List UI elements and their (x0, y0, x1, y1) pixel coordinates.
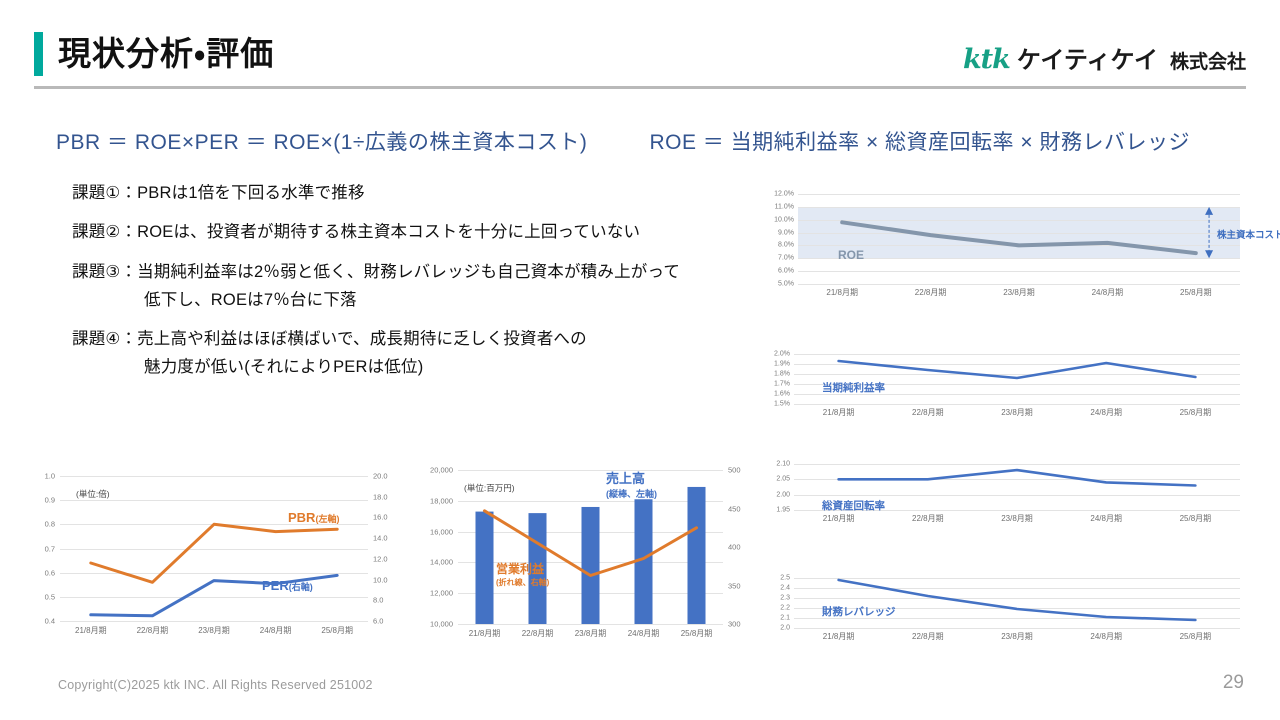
y-axis-tick: 2.4 (780, 585, 790, 592)
x-axis-tick: 22/8月期 (137, 625, 169, 636)
x-axis-tick: 21/8月期 (823, 631, 855, 642)
x-axis-tick: 21/8月期 (823, 513, 855, 524)
series-line (839, 361, 1196, 378)
x-axis-tick: 22/8月期 (522, 628, 554, 639)
x-axis-tick: 23/8月期 (1001, 513, 1033, 524)
x-axis-tick: 22/8月期 (912, 631, 944, 642)
x-axis-tick: 23/8月期 (198, 625, 230, 636)
gridline (794, 628, 1240, 629)
y-axis-tick: 1.5% (774, 401, 790, 408)
x-axis-tick: 25/8月期 (1180, 631, 1212, 642)
y-axis-tick: 11.0% (775, 203, 794, 210)
gridline (794, 404, 1240, 405)
x-axis-tick: 24/8月期 (628, 628, 660, 639)
y2-axis-tick: 450 (728, 504, 741, 513)
issue-item-1: 課題①：PBRは1倍を下回る水準で推移 (72, 182, 772, 204)
y2-axis-tick: 12.0 (373, 554, 388, 563)
series-name: 財務レバレッジ (822, 606, 896, 618)
y-axis-tick: 10.0% (774, 216, 794, 223)
x-axis-tick: 25/8月期 (1180, 407, 1212, 418)
y-axis-tick: 1.95 (776, 507, 790, 514)
formula-row: PBR ＝ ROE×PER ＝ ROE×(1÷広義の株主資本コスト) ROE ＝… (56, 126, 1236, 156)
y-axis-tick: 2.2 (780, 605, 790, 612)
series-name: ROE (838, 248, 864, 262)
unit-note: (単位:倍) (76, 488, 110, 500)
y2-axis-tick: 18.0 (373, 492, 388, 501)
y-axis-tick: 2.1 (780, 615, 790, 622)
series-axis-note: (左軸) (315, 514, 339, 524)
y2-axis-tick: 500 (728, 466, 741, 475)
chart-series-layer (794, 354, 1240, 404)
chart-roe: 5.0%6.0%7.0%8.0%9.0%10.0%11.0%12.0%21/8月… (760, 190, 1250, 302)
series-line (839, 470, 1196, 485)
x-axis-tick: 21/8月期 (469, 628, 501, 639)
issue-text: 課題④：売上高や利益はほぼ横ばいで、成長期待に乏しく投資者への (72, 330, 587, 348)
x-axis-tick: 23/8月期 (1001, 407, 1033, 418)
plot-area: 1.5%1.6%1.7%1.8%1.9%2.0%21/8月期22/8月期23/8… (794, 354, 1240, 404)
x-axis-tick: 21/8月期 (75, 625, 107, 636)
y2-axis-tick: 400 (728, 543, 741, 552)
y-axis-tick: 16,000 (430, 527, 453, 536)
y2-axis-tick: 6.0 (373, 617, 383, 626)
y-axis-tick: 0.7 (45, 544, 55, 553)
chart-sales-profit: 10,00012,00014,00016,00018,00020,0003003… (412, 460, 757, 648)
y-axis-tick: 2.00 (776, 491, 790, 498)
y-axis-tick: 7.0% (778, 255, 794, 262)
y2-axis-tick: 8.0 (373, 596, 383, 605)
series-name: 当期純利益率 (822, 382, 885, 394)
y-axis-tick: 20,000 (430, 466, 453, 475)
y-axis-tick: 0.4 (45, 617, 55, 626)
series-axis-note: (縦棒、左軸) (606, 487, 657, 500)
cost-of-equity-label: 株主資本コスト (1217, 227, 1280, 241)
y-axis-tick: 12.0% (774, 191, 794, 198)
y-axis-tick: 10,000 (430, 620, 453, 629)
y-axis-tick: 8.0% (778, 242, 794, 249)
series-label-ROE: ROE (838, 248, 864, 262)
x-axis-tick: 24/8月期 (260, 625, 292, 636)
y-axis-tick: 14,000 (430, 558, 453, 567)
chart-financial-leverage: 2.02.12.22.32.42.521/8月期22/8月期23/8月期24/8… (760, 568, 1250, 646)
y2-axis-tick: 300 (728, 620, 741, 629)
y-axis-tick: 1.8% (774, 371, 790, 378)
issue-text-continued: 低下し、ROEは7％台に下落 (144, 289, 772, 311)
x-axis-tick: 25/8月期 (681, 628, 713, 639)
series-name: PER (262, 578, 289, 593)
y-axis-tick: 2.05 (776, 476, 790, 483)
x-axis-tick: 22/8月期 (912, 513, 944, 524)
issue-text: 課題③：当期純利益率は2％弱と低く、財務レバレッジも自己資本が積み上がって (72, 263, 680, 281)
bar (581, 507, 599, 624)
company-logo: ktk ケイティケイ 株式会社 (963, 40, 1246, 75)
formula-roe: ROE ＝ 当期純利益率 × 総資産回転率 × 財務レバレッジ (649, 126, 1190, 156)
series-line (91, 524, 337, 582)
y-axis-tick: 6.0% (778, 268, 794, 275)
series-name: 営業利益 (496, 562, 544, 576)
slide: 現状分析・評価 ktk ケイティケイ 株式会社 PBR ＝ ROE×PER ＝ … (0, 0, 1280, 720)
y-axis-tick: 1.0 (45, 472, 55, 481)
logo-company-name: ケイティケイ (1017, 40, 1158, 75)
series-label-総資産回転率: 総資産回転率 (822, 498, 885, 513)
chart-pbr-per: 0.40.50.60.70.80.91.06.08.010.012.014.01… (30, 468, 400, 643)
issue-text-continued: 魅力度が低い(それによりPERは低位) (144, 356, 772, 378)
series-axis-note: (右軸) (289, 582, 313, 592)
series-axis-note: (折れ線、右軸) (496, 577, 549, 588)
y2-axis-tick: 20.0 (373, 472, 388, 481)
plot-area: 2.02.12.22.32.42.521/8月期22/8月期23/8月期24/8… (794, 578, 1240, 628)
issue-item-4: 課題④：売上高や利益はほぼ横ばいで、成長期待に乏しく投資者への 魅力度が低い(そ… (72, 328, 772, 379)
series-label-当期純利益率: 当期純利益率 (822, 380, 885, 395)
x-axis-tick: 23/8月期 (1001, 631, 1033, 642)
x-axis-tick: 22/8月期 (912, 407, 944, 418)
unit-note: (単位:百万円) (464, 482, 515, 494)
x-axis-tick: 24/8月期 (1090, 631, 1122, 642)
series-line (842, 222, 1196, 253)
issue-list: 課題①：PBRは1倍を下回る水準で推移 課題②：ROEは、投資者が期待する株主資… (72, 182, 772, 396)
page-number: 29 (1223, 672, 1244, 694)
y-axis-tick: 1.9% (774, 361, 790, 368)
y-axis-tick: 0.5 (45, 592, 55, 601)
bar (687, 487, 705, 624)
y-axis-tick: 18,000 (430, 496, 453, 505)
series-label-PBR: PBR(左軸) (288, 510, 339, 525)
title-accent-bar (34, 32, 43, 76)
y-axis-tick: 2.0% (774, 351, 790, 358)
chart-series-layer (794, 578, 1240, 628)
x-axis-tick: 24/8月期 (1090, 513, 1122, 524)
x-axis-tick: 24/8月期 (1092, 287, 1124, 298)
page-title: 現状分析・評価 (58, 32, 274, 76)
bar (475, 512, 493, 624)
y2-axis-tick: 16.0 (373, 513, 388, 522)
y-axis-tick: 2.5 (780, 575, 790, 582)
x-axis-tick: 21/8月期 (823, 407, 855, 418)
x-axis-tick: 24/8月期 (1090, 407, 1122, 418)
gridline (458, 624, 723, 625)
header-divider (34, 86, 1246, 89)
y-axis-tick: 1.7% (774, 381, 790, 388)
series-name: 総資産回転率 (822, 500, 885, 512)
y-axis-tick: 12,000 (430, 589, 453, 598)
x-axis-tick: 23/8月期 (1003, 287, 1035, 298)
y-axis-tick: 5.0% (778, 281, 794, 288)
y-axis-tick: 0.6 (45, 568, 55, 577)
plot-area: 5.0%6.0%7.0%8.0%9.0%10.0%11.0%12.0%21/8月… (798, 194, 1240, 284)
y-axis-tick: 9.0% (778, 229, 794, 236)
series-name: 売上高 (606, 471, 645, 486)
y-axis-tick: 1.6% (774, 391, 790, 398)
issue-text: 課題②：ROEは、投資者が期待する株主資本コストを十分に上回っていない (72, 223, 640, 241)
footer-copyright: Copyright(C)2025 ktk INC. All Rights Res… (58, 678, 373, 692)
x-axis-tick: 25/8月期 (1180, 513, 1212, 524)
x-axis-tick: 25/8月期 (321, 625, 353, 636)
y-axis-tick: 0.8 (45, 520, 55, 529)
x-axis-tick: 25/8月期 (1180, 287, 1212, 298)
series-label-営業利益: 営業利益(折れ線、右軸) (496, 560, 549, 588)
series-name: PBR (288, 510, 315, 525)
y-axis-tick: 2.0 (780, 625, 790, 632)
gridline (60, 621, 368, 622)
y-axis-tick: 0.9 (45, 496, 55, 505)
y2-axis-tick: 10.0 (373, 575, 388, 584)
issue-text: 課題①：PBRは1倍を下回る水準で推移 (72, 184, 365, 202)
y-axis-tick: 2.3 (780, 595, 790, 602)
x-axis-tick: 22/8月期 (915, 287, 947, 298)
x-axis-tick: 21/8月期 (826, 287, 858, 298)
issue-item-3: 課題③：当期純利益率は2％弱と低く、財務レバレッジも自己資本が積み上がって 低下… (72, 261, 772, 312)
series-label-売上高: 売上高(縦棒、左軸) (606, 468, 657, 500)
y2-axis-tick: 350 (728, 581, 741, 590)
chart-series-layer (798, 194, 1240, 284)
y-axis-tick: 2.10 (776, 461, 790, 468)
chart-net-margin: 1.5%1.6%1.7%1.8%1.9%2.0%21/8月期22/8月期23/8… (760, 350, 1250, 422)
series-label-財務レバレッジ: 財務レバレッジ (822, 604, 896, 619)
gridline (798, 284, 1240, 285)
formula-pbr: PBR ＝ ROE×PER ＝ ROE×(1÷広義の株主資本コスト) (56, 126, 587, 156)
chart-asset-turnover: 1.952.002.052.1021/8月期22/8月期23/8月期24/8月期… (760, 460, 1250, 528)
y2-axis-tick: 14.0 (373, 534, 388, 543)
series-label-PER: PER(右軸) (262, 578, 313, 593)
logo-mark: ktk (963, 44, 1010, 75)
logo-company-suffix: 株式会社 (1170, 47, 1246, 74)
x-axis-tick: 23/8月期 (575, 628, 607, 639)
issue-item-2: 課題②：ROEは、投資者が期待する株主資本コストを十分に上回っていない (72, 221, 772, 243)
